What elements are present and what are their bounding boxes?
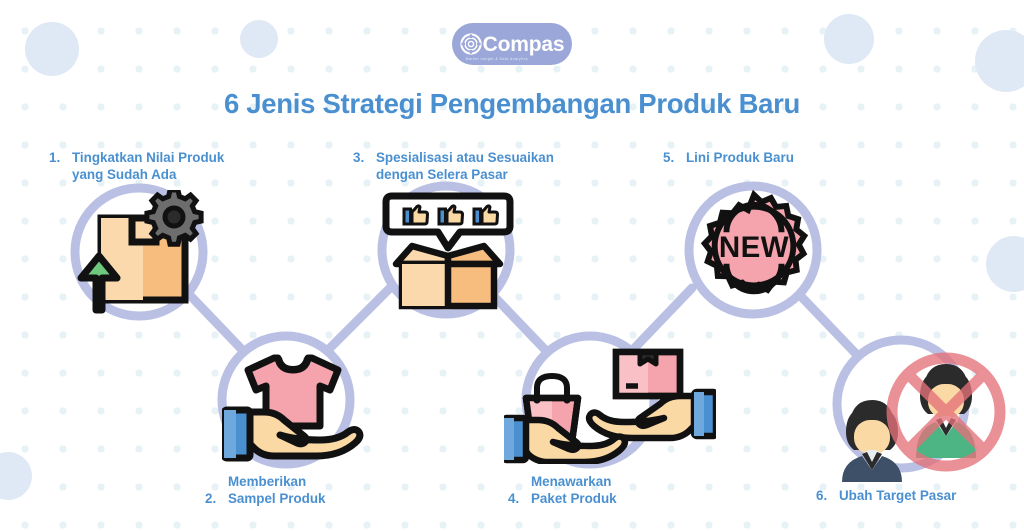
- hand-holding-box-icon: [589, 352, 716, 438]
- step-text-2-line1: Memberikan: [228, 473, 325, 490]
- step-number-6: 6.: [816, 487, 839, 504]
- icon-step-5: NEW: [695, 190, 813, 315]
- step-number-3: 3.: [353, 149, 376, 166]
- brand-logo-badge[interactable]: Compas Market Insight & Data Analytics: [452, 23, 572, 65]
- icon-step-3: [382, 192, 514, 315]
- infographic-canvas: Compas Market Insight & Data Analytics 6…: [0, 0, 1024, 532]
- step-text-4-line1: Menawarkan: [531, 473, 617, 490]
- icon-step-6: [824, 340, 1006, 487]
- step-label-6: 6. Ubah Target Pasar: [816, 487, 956, 504]
- step-label-3: 3. Spesialisasi atau Sesuaikan dengan Se…: [353, 149, 554, 183]
- page-title: 6 Jenis Strategi Pengembangan Produk Bar…: [0, 88, 1024, 120]
- brand-name: Compas: [483, 34, 565, 55]
- step-text-3-line2: dengan Selera Pasar: [376, 166, 508, 183]
- step-text-1-line1: Tingkatkan Nilai Produk: [72, 149, 224, 166]
- step-number-2: 2.: [205, 490, 228, 507]
- step-number-5: 5.: [663, 149, 686, 166]
- step-text-3-line1: Spesialisasi atau Sesuaikan: [376, 149, 554, 166]
- gear-icon: [147, 190, 201, 244]
- step-text-6-line1: Ubah Target Pasar: [839, 487, 956, 504]
- open-box-icon: [396, 246, 500, 306]
- step-text-1-line2: yang Sudah Ada: [72, 166, 176, 183]
- new-badge-text: NEW: [719, 231, 789, 264]
- brand-tagline: Market Insight & Data Analytics: [466, 57, 528, 61]
- new-badge-icon: NEW: [705, 195, 805, 291]
- step-label-1: 1. Tingkatkan Nilai Produk yang Sudah Ad…: [49, 149, 224, 183]
- step-text-4-line2: Paket Produk: [531, 490, 617, 507]
- compass-icon: [460, 33, 482, 55]
- step-label-5: 5. Lini Produk Baru: [663, 149, 794, 166]
- step-label-4: Menawarkan 4. Paket Produk: [508, 473, 617, 507]
- step-number-1: 1.: [49, 149, 72, 166]
- thumbs-up-icon-group: [404, 206, 498, 224]
- icon-step-2: [222, 344, 364, 467]
- step-label-2: Memberikan 2. Sampel Produk: [205, 473, 325, 507]
- step-number-4: 4.: [508, 490, 531, 507]
- box-icon: [616, 352, 680, 396]
- step-text-5-line1: Lini Produk Baru: [686, 149, 794, 166]
- step-text-2-line2: Sampel Produk: [228, 490, 325, 507]
- icon-step-4: [504, 334, 716, 469]
- icon-step-1: [76, 190, 206, 320]
